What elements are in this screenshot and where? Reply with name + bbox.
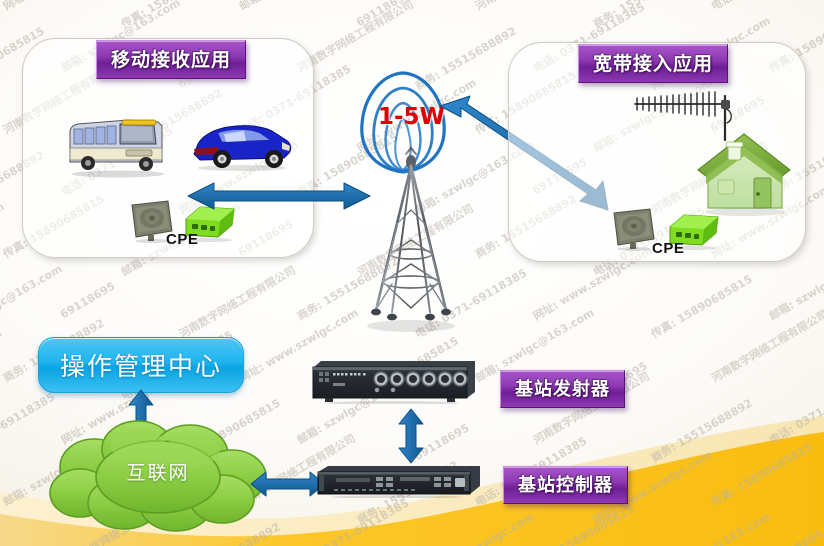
diagram-canvas: 河南数字网络工程有限公司商务: 15515688892电话: 0371-6911…	[0, 0, 824, 546]
watermark-text: 邮箱: szwlgc@163.com	[0, 260, 65, 341]
watermark-text: 电话: 0371-69118385	[294, 495, 412, 546]
watermark-text: 传真: 15890685815	[118, 0, 225, 32]
cpe-label-left: CPE	[166, 231, 198, 248]
watermark-text: 网址: www.szwlgc.com	[0, 0, 125, 14]
watermark-text: 邮箱: szwlgc@163.com	[648, 508, 773, 546]
watermark-text: 传真: 15890685815	[648, 271, 755, 342]
watermark-text: 河南数字网络工程有限公司	[708, 306, 824, 386]
panel-antenna-icon-right	[610, 205, 658, 251]
watermark-text: 69118695	[766, 527, 824, 546]
watermark-text: 传真: 15890685815	[530, 501, 637, 546]
bus-icon	[62, 108, 174, 180]
watermark-text: 网址: www.szwlgc.com	[0, 198, 7, 279]
cpe-label-right: CPE	[652, 240, 684, 257]
watermark-text: 网址: www.szwlgc.com	[412, 508, 537, 546]
watermark-text: 河南数字网络工程有限公司	[0, 324, 4, 404]
watermark-text: 商务: 15515688892	[648, 395, 755, 466]
badge-broadband-access: 宽带接入应用	[578, 44, 728, 83]
watermark-text: 商务: 15515688892	[590, 0, 697, 32]
omc-label: 操作管理中心	[60, 347, 222, 383]
base-station-transmitter-icon	[311, 358, 477, 404]
watermark-text: 邮箱: szwlgc@163.com	[236, 0, 361, 14]
car-icon	[188, 118, 296, 174]
arrow-internet-to-controller	[250, 469, 326, 499]
power-label: 1-5W	[378, 104, 445, 130]
watermark-text: 电话: 0371-69118385	[766, 371, 824, 448]
badge-base-station-transmitter: 基站发射器	[500, 370, 625, 408]
watermark-text: 69118695	[354, 0, 414, 29]
watermark-text: 电话: 0371-69118385	[708, 0, 824, 14]
badge-mobile-reception: 移动接收应用	[96, 40, 246, 79]
badge-base-station-controller: 基站控制器	[503, 466, 628, 504]
omc-node[interactable]: 操作管理中心	[38, 337, 244, 393]
watermark-text: 河南数字网络工程有限公司	[176, 262, 298, 342]
watermark-text: 传真: 15890685815	[708, 439, 815, 510]
base-station-controller-icon	[316, 464, 482, 498]
internet-cloud-icon	[42, 415, 274, 533]
arrow-transmitter-to-controller	[396, 408, 426, 464]
watermark-text: 河南数字网络工程有限公司	[472, 0, 594, 14]
watermark-text: 69118695	[58, 279, 118, 321]
house-icon	[690, 124, 798, 220]
